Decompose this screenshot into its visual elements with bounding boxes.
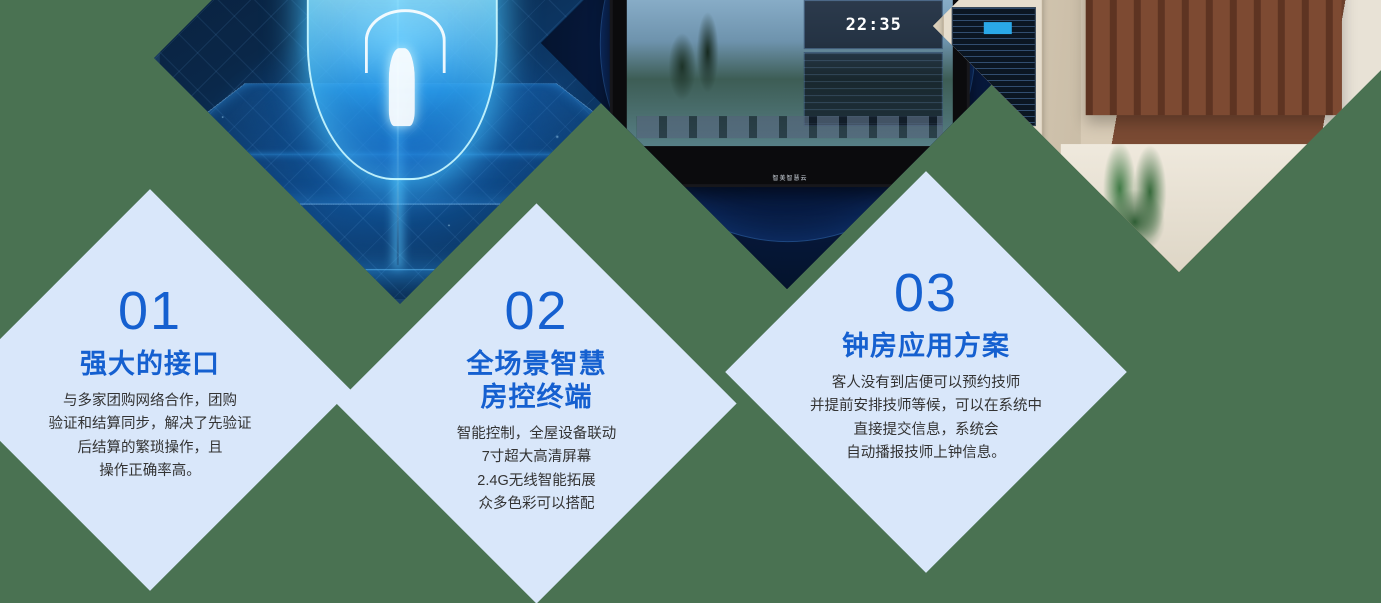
card-1-title-line: 强大的接口 (80, 348, 220, 381)
card-3-title-line: 钟房应用方案 (842, 330, 1010, 363)
potted-plant (1081, 105, 1189, 272)
screen-room-list (804, 52, 943, 126)
card-3-desc-line: 直接提交信息，系统会 (810, 419, 1042, 442)
card-2-desc-line: 众多色彩可以搭配 (457, 493, 617, 516)
card-1-desc-line: 与多家团购网络合作，团购 (49, 390, 252, 413)
card-1-text-diamond: 01 强大的接口 与多家团购网络合作，团购 验证和结算同步，解决了先验证 后结算… (0, 189, 351, 591)
card-3-description: 客人没有到店便可以预约技师 并提前安排技师等候，可以在系统中 直接提交信息，系统… (810, 372, 1042, 466)
tablet-brand-label: 智美智慧云 (613, 173, 968, 182)
screen-wallpaper-trees (653, 9, 751, 105)
card-3-desc-line: 客人没有到店便可以预约技师 (810, 372, 1042, 395)
card-2-desc-line: 2.4G无线智能拓展 (457, 470, 617, 493)
card-3-image-diamond (933, 0, 1381, 272)
card-1-desc-line: 后结算的繁琐操作，且 (49, 437, 252, 460)
card-2-number: 02 (504, 284, 568, 338)
card-1: 01 强大的接口 与多家团购网络合作，团购 验证和结算同步，解决了先验证 后结算… (8, 248, 292, 532)
card-2-title-line: 房控终端 (467, 381, 607, 414)
wooden-railing (1085, 0, 1341, 115)
card-2-title-line: 全场景智慧 (467, 348, 607, 381)
card-3: 03 钟房应用方案 客人没有到店便可以预约技师 并提前安排技师等候，可以在系统中… (784, 230, 1068, 514)
tablet-screen: 22:35 (627, 0, 953, 146)
card-1-description: 与多家团购网络合作，团购 验证和结算同步，解决了先验证 后结算的繁琐操作，且 操… (48, 390, 251, 484)
card-3-title: 钟房应用方案 (842, 330, 1010, 363)
tablet-device: 22:35 智美智慧云 (610, 0, 971, 187)
screen-toolbar (637, 116, 944, 138)
card-1-title: 强大的接口 (80, 348, 220, 381)
card-1-desc-line: 验证和结算同步，解决了先验证 (49, 413, 252, 436)
card-2: 02 全场景智慧 房控终端 智能控制，全屋设备联动 7寸超大高清屏幕 2.4G无… (395, 262, 678, 545)
card-3-image (933, 0, 1381, 272)
card-3-number: 03 (894, 266, 958, 320)
card-1-desc-line: 操作正确率高。 (48, 460, 251, 483)
feature-cards-banner: 01 强大的接口 与多家团购网络合作，团购 验证和结算同步，解决了先验证 后结算… (0, 0, 1381, 603)
card-1-number: 01 (118, 284, 182, 338)
screen-clock: 22:35 (804, 0, 943, 49)
card-3-desc-line: 并提前安排技师等候，可以在系统中 (810, 395, 1042, 418)
card-2-description: 智能控制，全屋设备联动 7寸超大高清屏幕 2.4G无线智能拓展 众多色彩可以搭配 (457, 423, 617, 517)
card-2-title: 全场景智慧 房控终端 (467, 348, 607, 414)
card-3-desc-line: 自动播报技师上钟信息。 (810, 442, 1042, 465)
control-panel-buttons (950, 134, 1037, 162)
wall-control-panel-room-image (933, 0, 1381, 272)
card-2-desc-line: 7寸超大高清屏幕 (457, 446, 617, 469)
card-2-desc-line: 智能控制，全屋设备联动 (457, 423, 617, 446)
